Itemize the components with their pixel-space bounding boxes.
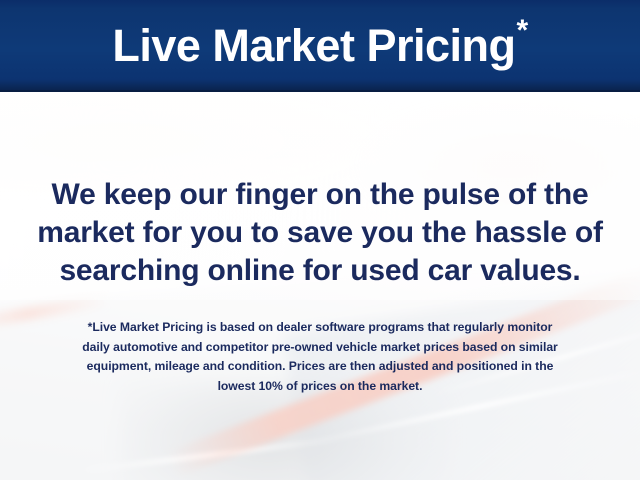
headline-line-3: searching online for used car values.: [26, 252, 614, 290]
disclaimer-line-2: daily automotive and competitor pre-owne…: [28, 338, 612, 358]
headline-line-1: We keep our finger on the pulse of the: [26, 176, 614, 214]
header-banner: Live Market Pricing*: [0, 0, 640, 90]
banner-title: Live Market Pricing*: [0, 0, 640, 90]
banner-title-text: Live Market Pricing: [112, 23, 515, 68]
disclaimer-text: *Live Market Pricing is based on dealer …: [28, 318, 612, 396]
headline-text: We keep our finger on the pulse of the m…: [26, 176, 614, 290]
headline-line-2: market for you to save you the hassle of: [26, 214, 614, 252]
disclaimer-line-3: equipment, mileage and condition. Prices…: [28, 357, 612, 377]
disclaimer-line-4: lowest 10% of prices on the market.: [28, 377, 612, 397]
disclaimer-line-1: *Live Market Pricing is based on dealer …: [28, 318, 612, 338]
live-market-pricing-card: Live Market Pricing* We keep our finger …: [0, 0, 640, 480]
banner-title-asterisk: *: [516, 16, 527, 46]
